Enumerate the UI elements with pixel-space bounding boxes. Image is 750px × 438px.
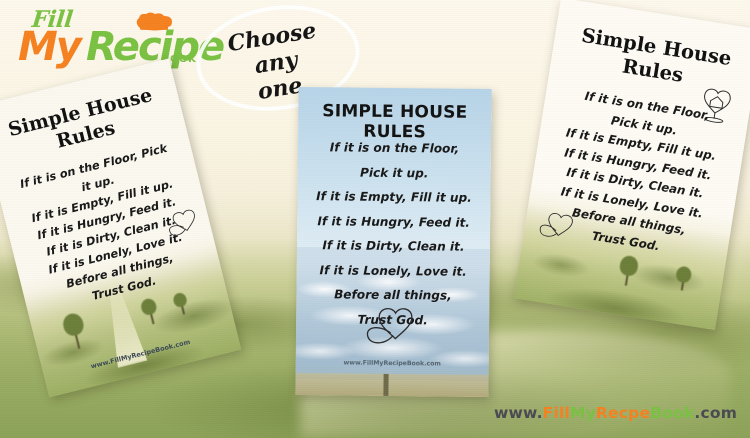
- url-part-book: Book: [650, 404, 694, 422]
- tree-canopy: [61, 311, 86, 337]
- tree-canopy: [140, 297, 158, 316]
- heart-infinity-icon: [535, 207, 581, 245]
- chef-hat-icon: [134, 12, 176, 32]
- url-part-www: www.: [494, 404, 543, 422]
- url-part-com: .com: [694, 404, 737, 422]
- site-logo[interactable]: Fill My Recipe BOOK: [14, 4, 204, 66]
- tree-canopy: [675, 265, 692, 283]
- tree-canopy: [619, 255, 640, 278]
- poster-center-signpost: [383, 374, 388, 396]
- footer-website-url[interactable]: www.FillMyRecpeBook.com: [494, 404, 737, 422]
- logo-word-my: My: [18, 24, 80, 70]
- url-part-my: My: [570, 404, 596, 422]
- rule-line: Pick it up.: [298, 159, 491, 186]
- url-part-recipe: Recpe: [596, 404, 650, 422]
- rule-line: If it is Empty, Fill it up.: [297, 184, 490, 211]
- heart-infinity-icon: [362, 303, 424, 352]
- rule-line: If it is Dirty, Clean it.: [297, 233, 490, 260]
- poster-collage-canvas: Fill My Recipe BOOK Choose any one Simpl…: [0, 0, 750, 438]
- url-part-fill: Fill: [543, 404, 570, 422]
- rule-line: If it is on the Floor,: [298, 135, 491, 162]
- tree-canopy: [172, 292, 188, 309]
- rule-line: If it is Hungry, Feed it.: [297, 208, 490, 235]
- rule-line: If it is Lonely, Love it.: [297, 257, 490, 284]
- poster-center-ground: [295, 373, 488, 397]
- poster-center[interactable]: SIMPLE HOUSE RULES If it is on the Floor…: [295, 87, 491, 397]
